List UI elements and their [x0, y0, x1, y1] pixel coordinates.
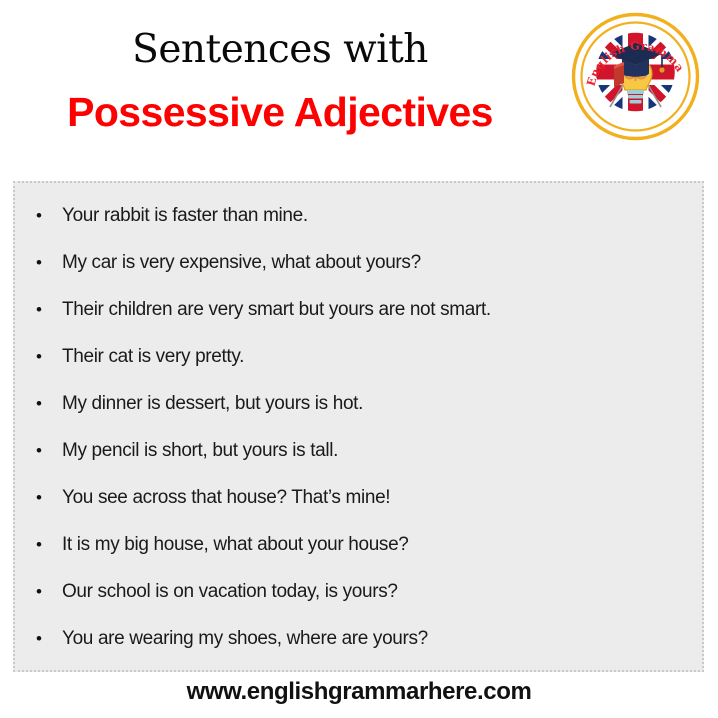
sentences-list: • Your rabbit is faster than mine. • My … — [15, 183, 702, 675]
sentence-text: Their children are very smart but yours … — [62, 299, 491, 321]
sentence-text: Our school is on vacation today, is your… — [62, 581, 398, 603]
website-url[interactable]: www.englishgrammarhere.com — [187, 678, 532, 705]
sentence-text: My dinner is dessert, but yours is hot. — [62, 393, 363, 415]
page-title-primary: Sentences with — [0, 30, 560, 69]
title-block: Sentences with Possessive Adjectives — [0, 0, 560, 133]
list-item: • You see across that house? That’s mine… — [15, 487, 702, 534]
list-item: • My dinner is dessert, but yours is hot… — [15, 393, 702, 440]
list-item: • You are wearing my shoes, where are yo… — [15, 628, 702, 675]
list-item: • Their cat is very pretty. — [15, 346, 702, 393]
bullet-icon: • — [32, 207, 62, 224]
bullet-icon: • — [32, 348, 62, 365]
list-item: • My car is very expensive, what about y… — [15, 252, 702, 299]
bullet-icon: • — [32, 395, 62, 412]
bullet-icon: • — [32, 489, 62, 506]
site-logo: English Grammar Here.Com — [570, 11, 701, 142]
list-item: • It is my big house, what about your ho… — [15, 534, 702, 581]
sentence-text: My car is very expensive, what about you… — [62, 252, 421, 274]
list-item: • My pencil is short, but yours is tall. — [15, 440, 702, 487]
bullet-icon: • — [32, 583, 62, 600]
bullet-icon: • — [32, 536, 62, 553]
page-header: Sentences with Possessive Adjectives — [0, 0, 718, 168]
bullet-icon: • — [32, 630, 62, 647]
page-title-secondary: Possessive Adjectives — [0, 92, 560, 133]
bullet-icon: • — [32, 254, 62, 271]
list-item: • Their children are very smart but your… — [15, 299, 702, 346]
sentence-text: Their cat is very pretty. — [62, 346, 244, 368]
list-item: • Your rabbit is faster than mine. — [15, 205, 702, 252]
sentences-panel: • Your rabbit is faster than mine. • My … — [13, 181, 704, 672]
sentence-text: It is my big house, what about your hous… — [62, 534, 409, 556]
sentence-text: Your rabbit is faster than mine. — [62, 205, 308, 227]
sentence-text: You see across that house? That’s mine! — [62, 487, 390, 509]
bullet-icon: • — [32, 301, 62, 318]
list-item: • Our school is on vacation today, is yo… — [15, 581, 702, 628]
sentence-text: You are wearing my shoes, where are your… — [62, 628, 428, 650]
page-footer: www.englishgrammarhere.com — [0, 678, 718, 706]
bullet-icon: • — [32, 442, 62, 459]
sentence-text: My pencil is short, but yours is tall. — [62, 440, 338, 462]
